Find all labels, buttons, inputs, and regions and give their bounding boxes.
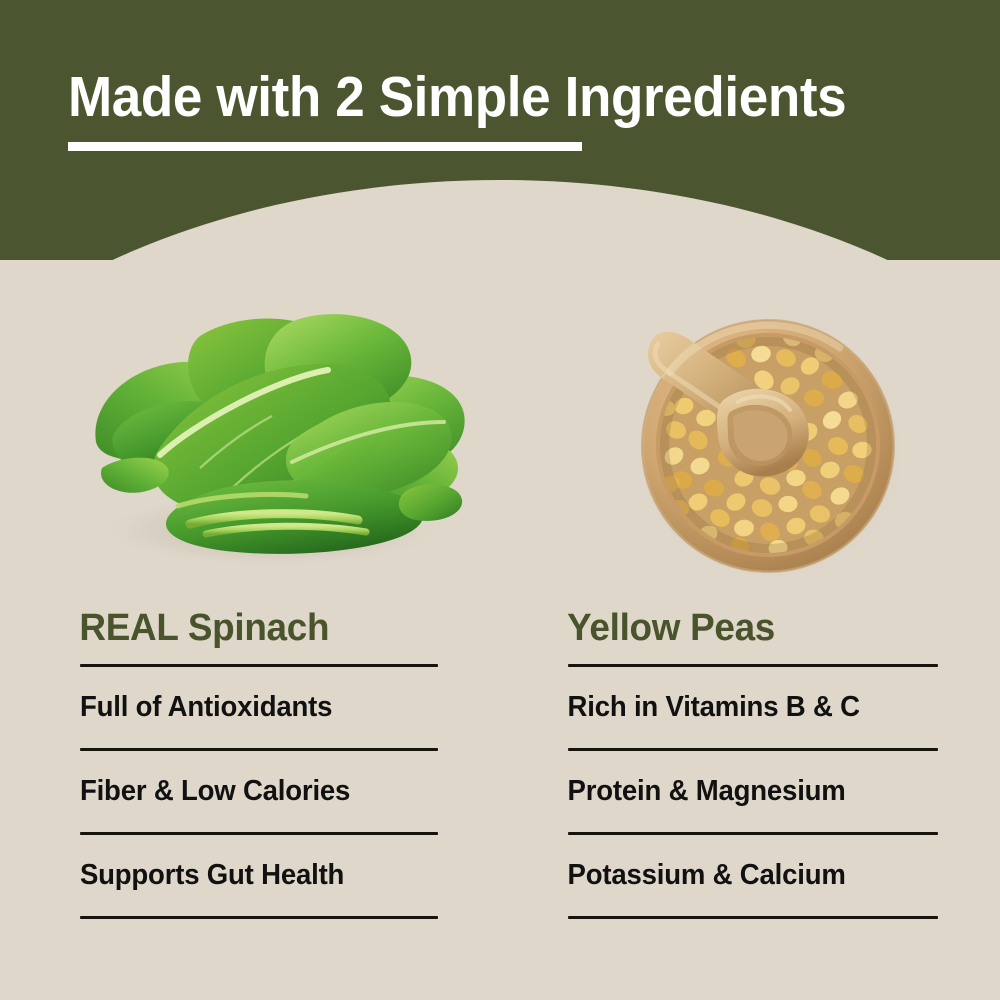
header-curve-divider bbox=[0, 180, 1000, 260]
fact-item: Fiber & Low Calories bbox=[60, 751, 459, 832]
yellow-peas-bowl-photo bbox=[540, 262, 960, 592]
fact-item: Rich in Vitamins B & C bbox=[540, 667, 939, 748]
fact-list-yellow-peas: Rich in Vitamins B & C Protein & Magnesi… bbox=[540, 664, 960, 919]
fact-item: Full of Antioxidants bbox=[60, 667, 459, 748]
ingredient-column-yellow-peas: Yellow Peas Rich in Vitamins B & C Prote… bbox=[540, 262, 960, 919]
title-underline bbox=[68, 142, 582, 151]
ingredients-infographic: Made with 2 Simple Ingredients bbox=[0, 0, 1000, 1000]
ingredient-name-spinach: REAL Spinach bbox=[60, 592, 467, 664]
spinach-leaves-photo bbox=[60, 262, 480, 592]
fact-item: Potassium & Calcium bbox=[540, 835, 939, 916]
fact-item: Supports Gut Health bbox=[60, 835, 459, 916]
ingredient-columns: REAL Spinach Full of Antioxidants Fiber … bbox=[0, 262, 1000, 1000]
fact-list-spinach: Full of Antioxidants Fiber & Low Calorie… bbox=[60, 664, 480, 919]
fact-divider bbox=[80, 916, 438, 919]
ingredient-column-spinach: REAL Spinach Full of Antioxidants Fiber … bbox=[60, 262, 480, 919]
fact-divider bbox=[568, 916, 938, 919]
ingredient-name-yellow-peas: Yellow Peas bbox=[540, 592, 947, 664]
page-title: Made with 2 Simple Ingredients bbox=[68, 66, 868, 128]
header-banner: Made with 2 Simple Ingredients bbox=[0, 0, 1000, 260]
fact-item: Protein & Magnesium bbox=[540, 751, 939, 832]
